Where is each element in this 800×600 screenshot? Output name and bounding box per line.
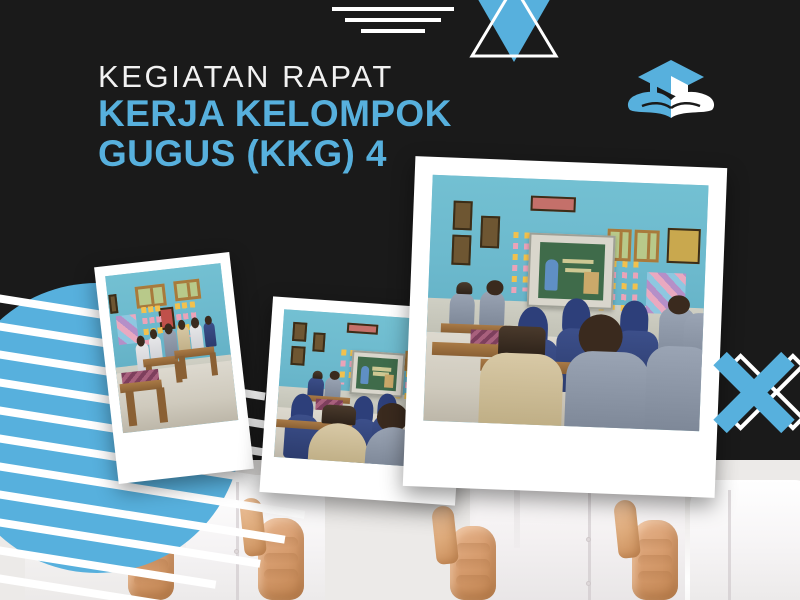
poster-canvas: KEGIATAN RAPAT KERJA KELOMPOK GUGUS (KKG… — [0, 0, 800, 600]
triangle-outline-icon — [468, 0, 560, 60]
photo-presentation-large — [423, 175, 708, 431]
photo-teachers-desks — [105, 263, 238, 433]
x-cross-icon — [700, 338, 800, 446]
graduation-cap-book-icon — [612, 52, 730, 124]
headline-line-2: KERJA KELOMPOK — [98, 94, 518, 134]
headline-line-1: KEGIATAN RAPAT — [98, 60, 518, 94]
stacked-lines-icon — [318, 0, 468, 40]
shirt-right — [690, 480, 800, 600]
polaroid-presentation-large — [403, 156, 727, 498]
polaroid-teachers-desks — [94, 252, 254, 484]
